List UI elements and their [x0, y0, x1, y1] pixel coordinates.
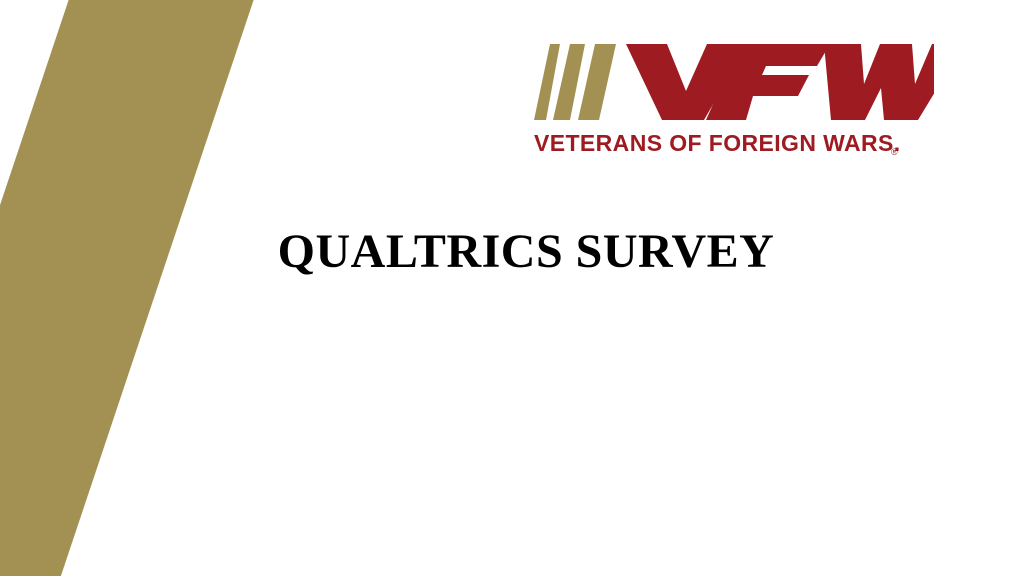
slide-canvas: VETERANS OF FOREIGN WARS. ® QUALTRICS SU… [0, 0, 1024, 576]
diagonal-stripes-decoration [0, 0, 470, 576]
vfw-tagline-icon: VETERANS OF FOREIGN WARS. ® [534, 129, 934, 159]
vfw-tagline-text: VETERANS OF FOREIGN WARS. [534, 130, 901, 156]
gold-stripe-narrow [0, 0, 10, 576]
vfw-letters [626, 44, 934, 120]
registered-trademark-icon: ® [891, 147, 898, 157]
gold-slash-group [534, 44, 616, 120]
page-title: QUALTRICS SURVEY [0, 224, 1024, 279]
vfw-wordmark-icon [534, 44, 934, 120]
vfw-logo: VETERANS OF FOREIGN WARS. ® [534, 44, 934, 159]
gold-stripe-wide [0, 0, 267, 576]
